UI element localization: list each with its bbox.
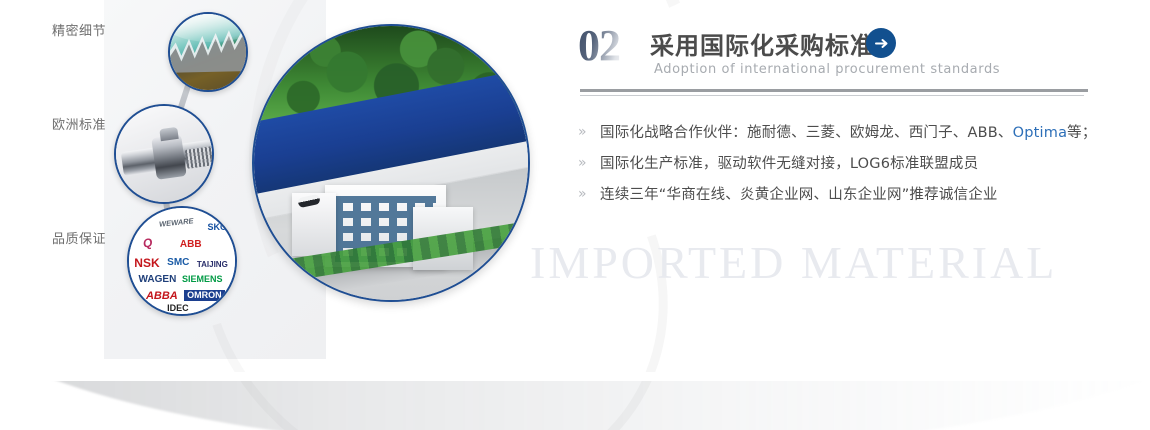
brand-logo: OMRON [184, 290, 225, 301]
brand-logo: SKO [207, 223, 227, 232]
header-rule-thick [580, 89, 1088, 92]
brand-logo: SIEMENS [182, 275, 223, 284]
screw-nut [151, 134, 187, 180]
section-header: 02 采用国际化采购标准 Adoption of international p… [578, 24, 1098, 86]
brand-logo: IDEC [167, 304, 189, 313]
logo-cloud: WEWARESKOQABBNSKSMCTAIJINGWAGENSIEMENSAB… [129, 208, 235, 314]
section-title-cn: 采用国际化采购标准 [650, 26, 875, 61]
promo-banner: 精密细节 欧洲标准 品质保证 WEWARESKOQABBNSKSMCTAIJIN… [0, 0, 1150, 430]
bullet-marker-icon: » [578, 124, 600, 140]
quality-brand-logos: WEWARESKOQABBNSKSMCTAIJINGWAGENSIEMENSAB… [127, 206, 237, 316]
side-label-european-standard: 欧洲标准 [52, 114, 106, 133]
section-title-en: Adoption of international procurement st… [654, 62, 1000, 77]
arrow-right-circle-icon[interactable] [866, 28, 896, 58]
feature-bullet-list: »国际化战略合作伙伴：施耐德、三菱、欧姆龙、西门子、ABB、Optima等；»国… [578, 116, 1098, 209]
bullet-text: 连续三年“华商在线、炎黄企业网、山东企业网”推荐诚信企业 [600, 183, 998, 204]
brand-logo: SMC [167, 258, 189, 268]
brand-logo: NSK [134, 257, 159, 269]
side-label-quality: 品质保证 [52, 228, 106, 247]
bullet-item: »国际化生产标准，驱动软件无缝对接，LOG6标准联盟成员 [578, 147, 1098, 178]
bullet-text: 国际化战略合作伙伴：施耐德、三菱、欧姆龙、西门子、ABB、Optima等； [600, 121, 1097, 142]
factory-building-photo [252, 24, 530, 302]
bullet-item: »连续三年“华商在线、炎黄企业网、山东企业网”推荐诚信企业 [578, 178, 1098, 209]
brand-logo: ABB [180, 240, 202, 250]
section-number: 02 [578, 24, 620, 68]
european-standard-photo [114, 104, 214, 204]
bullet-item: »国际化战略合作伙伴：施耐德、三菱、欧姆龙、西门子、ABB、Optima等； [578, 116, 1098, 147]
screw-flange [159, 127, 178, 141]
screw-threads [185, 146, 214, 169]
bottom-mask [0, 372, 1150, 381]
bullet-text: 国际化生产标准，驱动软件无缝对接，LOG6标准联盟成员 [600, 152, 978, 173]
precision-detail-photo [168, 12, 248, 92]
brand-logo: WAGEN [139, 275, 177, 285]
watermark-text: IMPORTED MATERIAL [530, 236, 1057, 289]
bullet-highlight: Optima [1013, 125, 1068, 141]
brand-logo: ABBA [146, 291, 178, 302]
brand-logo: Q [142, 236, 153, 249]
content-column: 02 采用国际化采购标准 Adoption of international p… [578, 0, 1098, 430]
brand-logo: TAIJING [197, 261, 228, 269]
side-label-precision: 精密细节 [52, 20, 106, 39]
bottom-shadow-band [0, 372, 1150, 430]
brand-logo: WEWARE [158, 217, 193, 228]
bullet-marker-icon: » [578, 155, 600, 171]
header-rule-thin [580, 95, 1084, 96]
bullet-marker-icon: » [578, 186, 600, 202]
arrow-right-glyph [873, 35, 890, 52]
